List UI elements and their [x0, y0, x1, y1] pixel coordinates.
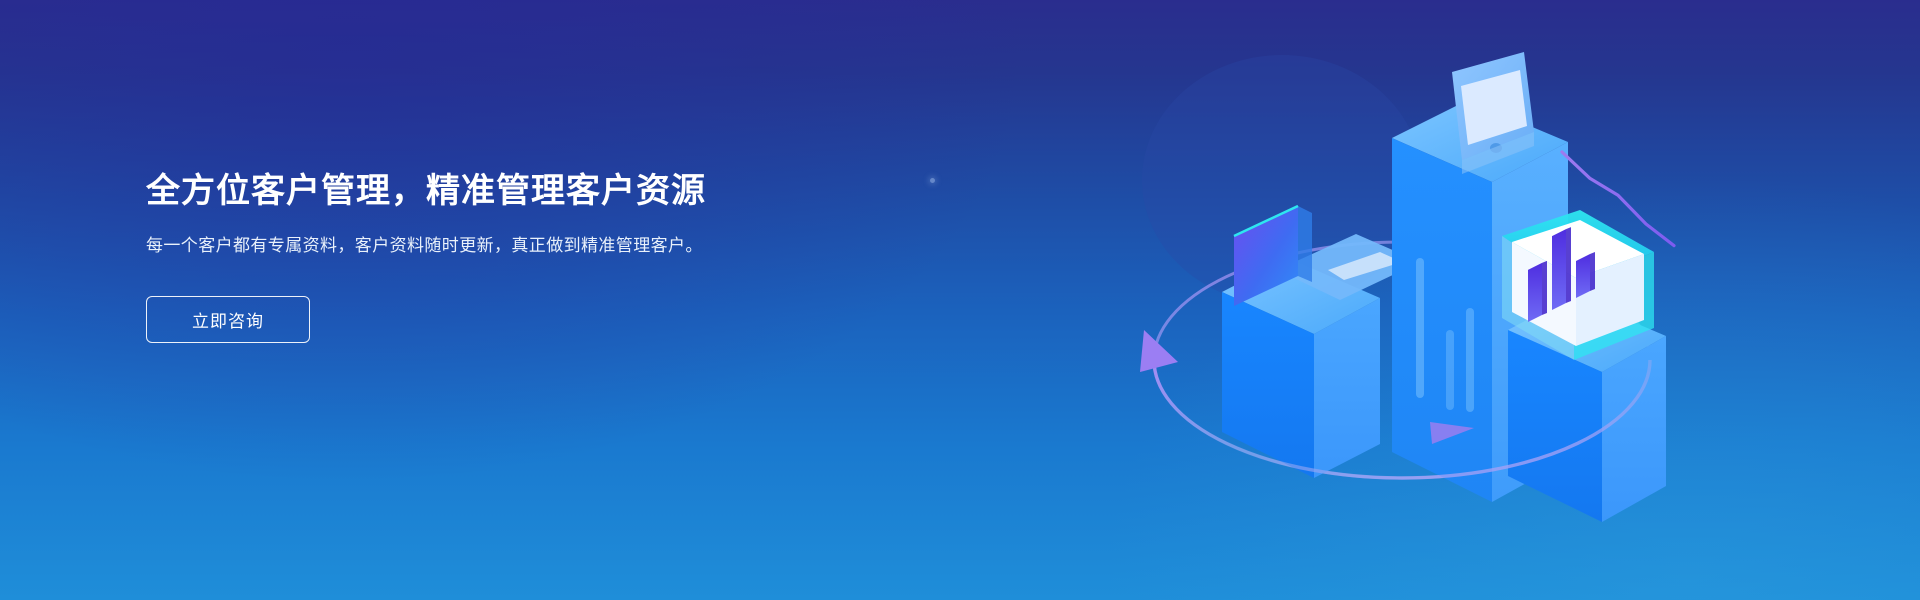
sparkle-dot	[930, 178, 935, 183]
hero-banner: 全方位客户管理，精准管理客户资源 每一个客户都有专属资料，客户资料随时更新，真正…	[0, 0, 1920, 600]
monitor-bar	[1528, 263, 1542, 322]
consult-now-button[interactable]: 立即咨询	[146, 296, 310, 343]
hero-illustration	[1130, 30, 1690, 575]
monitor-bar-side	[1542, 261, 1547, 315]
hero-subtitle: 每一个客户都有专属资料，客户资料随时更新，真正做到精准管理客户。	[146, 232, 736, 260]
monitor-bar	[1552, 229, 1566, 310]
monitor-bar-side	[1590, 252, 1595, 291]
monitor-bar-side	[1566, 227, 1571, 303]
page-title: 全方位客户管理，精准管理客户资源	[146, 168, 786, 214]
hero-copy: 全方位客户管理，精准管理客户资源 每一个客户都有专属资料，客户资料随时更新，真正…	[146, 168, 786, 343]
monitor-bar	[1576, 254, 1590, 298]
